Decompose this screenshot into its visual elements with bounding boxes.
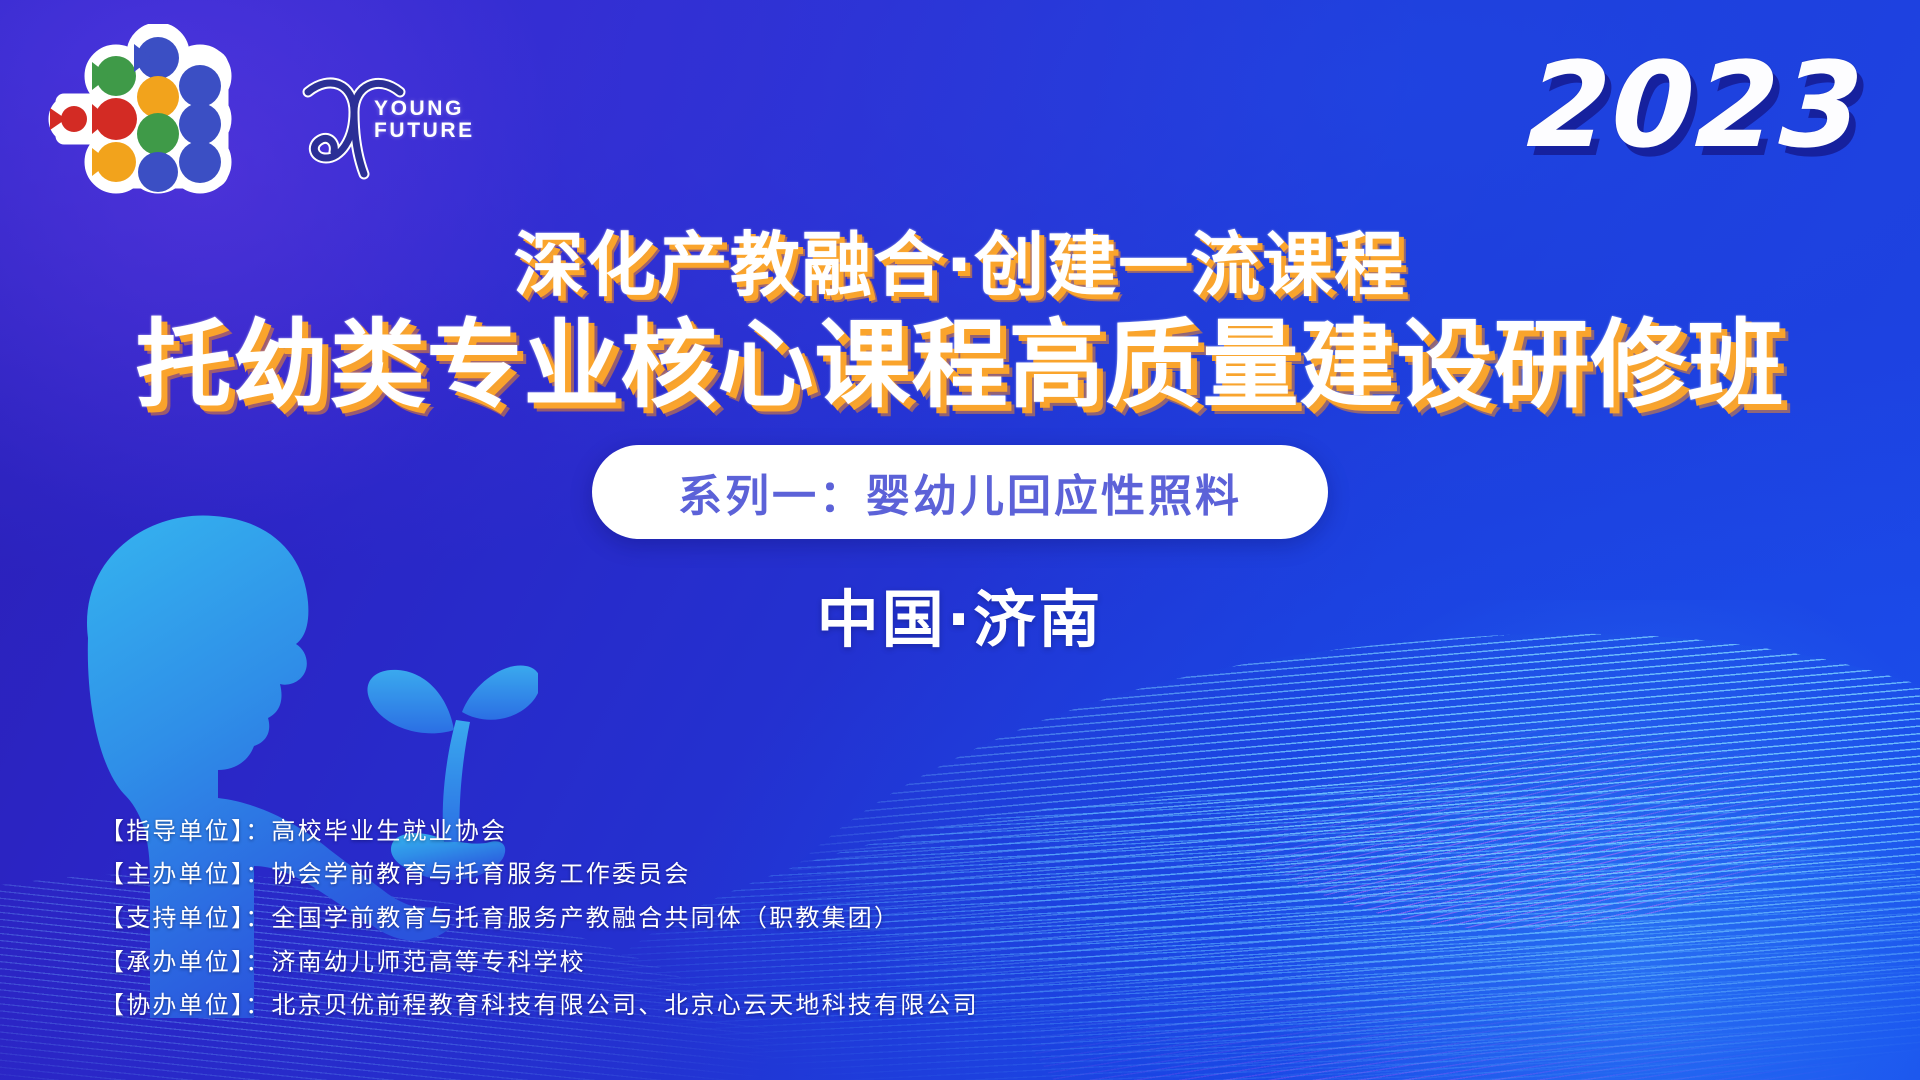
young-future-mosaic-logo-icon: [44, 24, 244, 194]
year-label: 2023: [1524, 36, 1868, 174]
credit-line-support: 【支持单位】：全国学前教育与托育服务产教融合共同体（职教集团）: [100, 897, 979, 941]
conference-poster: YOUNG FUTURE 2023 深化产教融合·创建一流课程 托幼类专业核心课…: [0, 0, 1920, 1080]
organizer-credits: 【指导单位】：高校毕业生就业协会 【主办单位】：协会学前教育与托育服务工作委员会…: [100, 810, 979, 1028]
series-badge: 系列一：婴幼儿回应性照料: [592, 445, 1328, 539]
young-future-wordmark: YOUNG FUTURE: [374, 98, 475, 143]
title-line-1: 深化产教融合·创建一流课程: [0, 228, 1920, 304]
credit-line-host: 【主办单位】：协会学前教育与托育服务工作委员会: [100, 853, 979, 897]
series-badge-label: 系列一：婴幼儿回应性照料: [678, 471, 1242, 522]
logo-lockup: YOUNG FUTURE: [44, 24, 464, 194]
bottom-right-glow: [1180, 600, 1920, 1080]
wordmark-line-future: FUTURE: [374, 120, 475, 142]
wordmark-line-young: YOUNG: [374, 98, 475, 120]
credit-line-guidance: 【指导单位】：高校毕业生就业协会: [100, 810, 979, 854]
title-line-2: 托幼类专业核心课程高质量建设研修班: [0, 314, 1920, 418]
credit-line-organizer: 【承办单位】：济南幼儿师范高等专科学校: [100, 941, 979, 985]
credit-line-coorganizer: 【协办单位】：北京贝优前程教育科技有限公司、北京心云天地科技有限公司: [100, 984, 979, 1028]
